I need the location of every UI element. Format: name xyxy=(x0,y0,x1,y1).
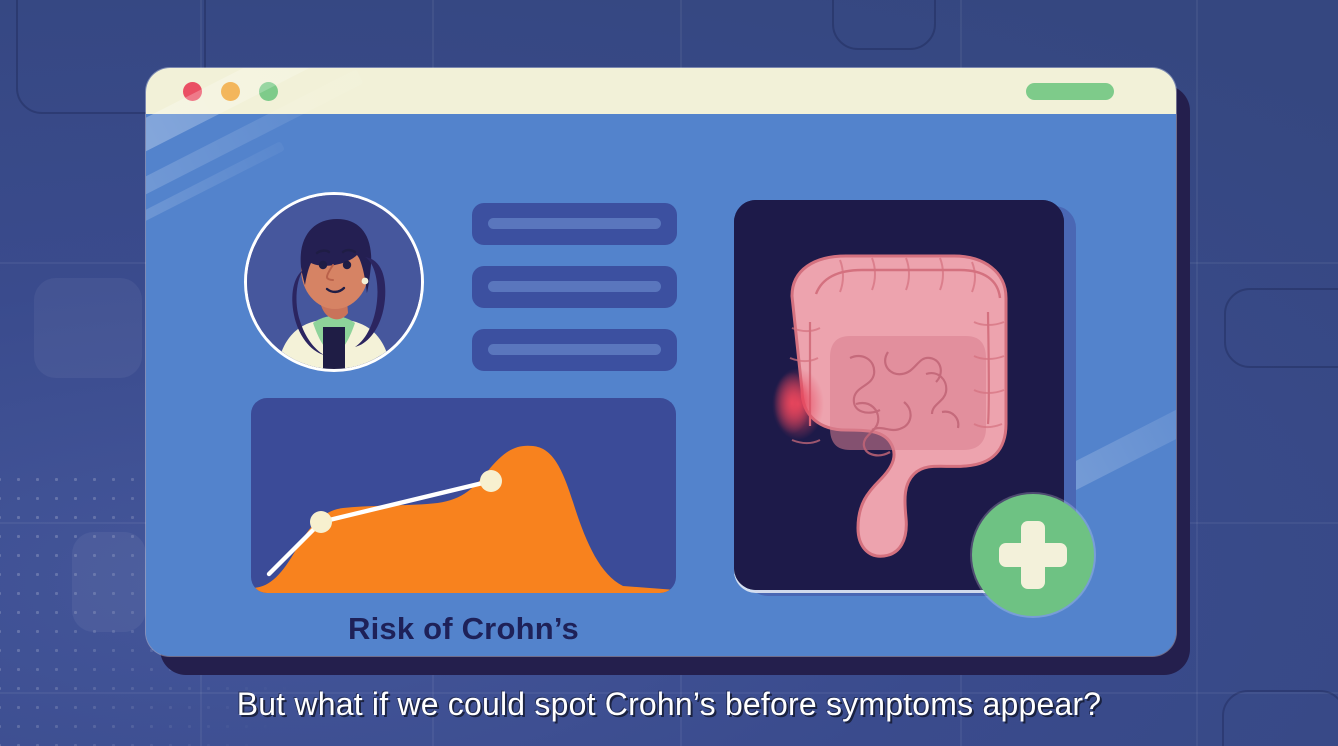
window-titlebar xyxy=(146,68,1176,114)
close-icon[interactable] xyxy=(183,82,202,101)
plus-icon xyxy=(999,543,1067,567)
placeholder-bar xyxy=(472,329,677,371)
window-body: Risk of Crohn’s disease development xyxy=(146,114,1176,656)
chart-caption: Risk of Crohn’s disease development xyxy=(251,609,676,656)
risk-chart-card[interactable] xyxy=(251,398,676,593)
maximize-icon[interactable] xyxy=(259,82,278,101)
background-panel-outline xyxy=(832,0,936,50)
placeholder-bar-inner xyxy=(488,344,661,355)
minimize-icon[interactable] xyxy=(221,82,240,101)
placeholder-bar xyxy=(472,266,677,308)
scene-root: Risk of Crohn’s disease development But … xyxy=(0,0,1338,746)
status-pill[interactable] xyxy=(1026,83,1114,100)
placeholder-bar xyxy=(472,203,677,245)
placeholder-bar-inner xyxy=(488,281,661,292)
background-gridline xyxy=(1196,0,1198,746)
add-plus-badge[interactable] xyxy=(972,494,1094,616)
placeholder-bar-inner xyxy=(488,218,661,229)
background-panel-outline xyxy=(1224,288,1338,368)
background-soft-panel xyxy=(34,278,142,378)
browser-window: Risk of Crohn’s disease development xyxy=(146,68,1176,656)
video-subtitle: But what if we could spot Crohn’s before… xyxy=(0,686,1338,723)
avatar[interactable] xyxy=(244,192,424,372)
caption-line-2: disease development xyxy=(251,649,676,656)
caption-line-1: Risk of Crohn’s xyxy=(251,609,676,649)
